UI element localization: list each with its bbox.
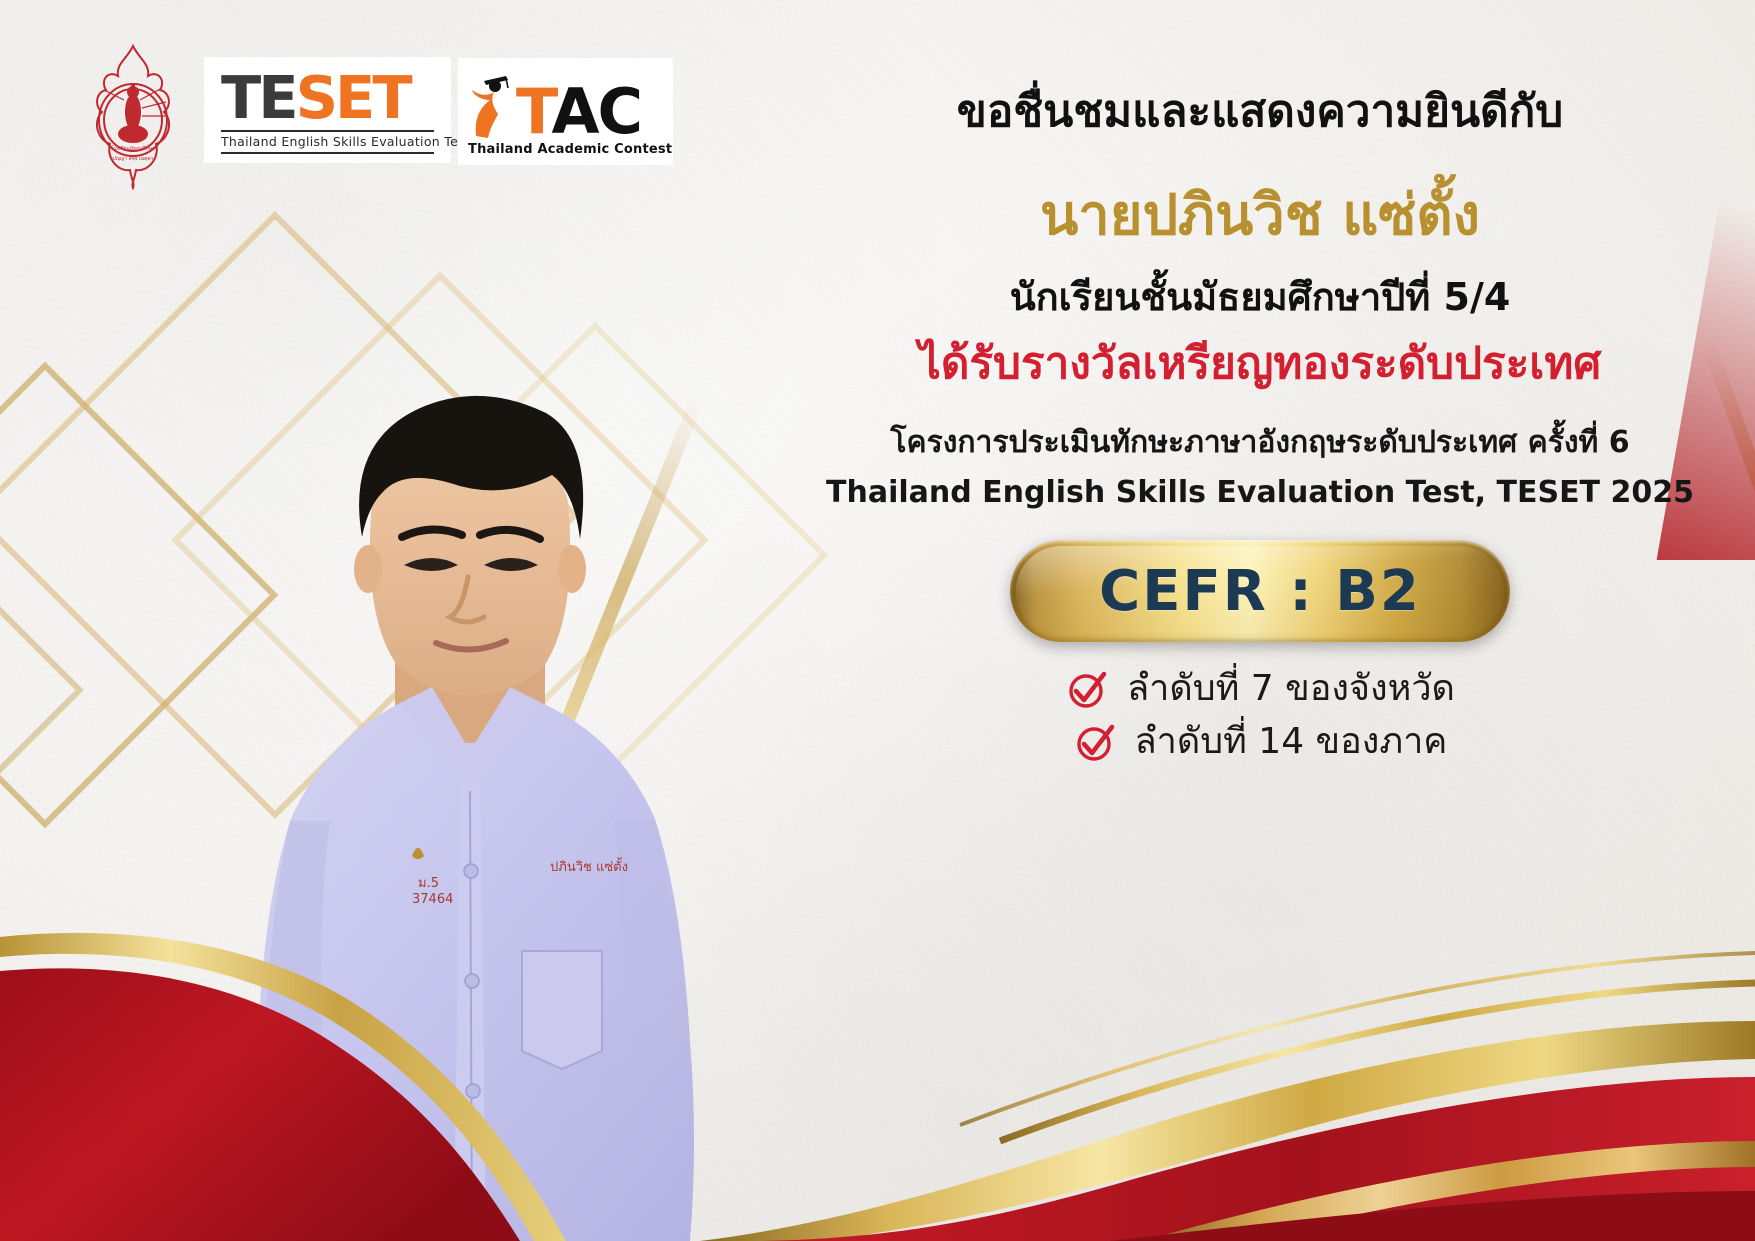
- rank-list: ลำดับที่ 7 ของจังหวัด ลำดับที่ 14 ของภาค: [820, 666, 1700, 764]
- student-photo: ม.5 37464 ปภินวิช แซ่ตั้ง: [150, 351, 790, 1241]
- svg-text:ม.5: ม.5: [418, 876, 439, 891]
- copy-block: ขอชื่นชมและแสดงความยินดีกับ นายปภินวิช แ…: [820, 84, 1700, 764]
- project-title-thai: โครงการประเมินทักษะภาษาอังกฤษระดับประเทศ…: [820, 421, 1700, 465]
- tac-wordmark: TAC: [516, 84, 641, 140]
- list-item: ลำดับที่ 7 ของจังหวัด: [1065, 666, 1455, 711]
- cefr-badge: CEFR : B2: [1010, 540, 1510, 642]
- tac-logo: TAC Thailand Academic Contest: [458, 58, 673, 165]
- award-line: ได้รับรางวัลเหรียญทองระดับประเทศ: [820, 336, 1700, 391]
- graduate-figure-icon: [468, 70, 516, 140]
- svg-text:ปภินวิช แซ่ตั้ง: ปภินวิช แซ่ตั้ง: [550, 857, 628, 875]
- gold-diamond-decoration: [0, 506, 84, 874]
- teset-tagline: Thailand English Skills Evaluation Test: [221, 134, 434, 149]
- certificate-poster: โรงเรียนมัธยมศึกษา ปญฺญา สจฺจ เมตฺตา TES…: [0, 0, 1755, 1241]
- project-title-english: Thailand English Skills Evaluation Test,…: [820, 471, 1700, 515]
- teset-word-part2: SET: [296, 63, 410, 132]
- teset-wordmark: TESET: [221, 70, 434, 126]
- teset-word-part1: TE: [221, 63, 296, 132]
- rank-label: ลำดับที่ 7 ของจังหวัด: [1127, 666, 1455, 711]
- check-circle-icon: [1065, 667, 1109, 711]
- list-item: ลำดับที่ 14 ของภาค: [1073, 719, 1448, 764]
- tac-word-part1: T: [516, 75, 551, 148]
- student-name: นายปภินวิช แซ่ตั้ง: [820, 181, 1700, 251]
- student-class: นักเรียนชั้นมัธยมศึกษาปีที่ 5/4: [820, 273, 1700, 322]
- tac-tagline: Thailand Academic Contest: [468, 142, 659, 157]
- teset-divider-bottom: [221, 152, 434, 154]
- logo-band: TESET Thailand English Skills Evaluation…: [205, 58, 673, 165]
- tac-word-part2: AC: [551, 75, 640, 148]
- cefr-badge-label: CEFR : B2: [1099, 559, 1421, 624]
- svg-text:โรงเรียนมัธยมศึกษา: โรงเรียนมัธยมศึกษา: [111, 145, 155, 152]
- svg-text:37464: 37464: [412, 892, 453, 907]
- svg-text:ปญฺญา สจฺจ เมตฺตา: ปญฺญา สจฺจ เมตฺตา: [113, 156, 154, 162]
- rank-label: ลำดับที่ 14 ของภาค: [1135, 719, 1448, 764]
- gold-streak-decoration: [1700, 338, 1755, 737]
- congratulations-line: ขอชื่นชมและแสดงความยินดีกับ: [820, 84, 1700, 139]
- school-seal-icon: โรงเรียนมัธยมศึกษา ปญฺญา สจฺจ เมตฺตา: [78, 40, 188, 190]
- check-circle-icon: [1073, 720, 1117, 764]
- teset-logo: TESET Thailand English Skills Evaluation…: [205, 58, 450, 162]
